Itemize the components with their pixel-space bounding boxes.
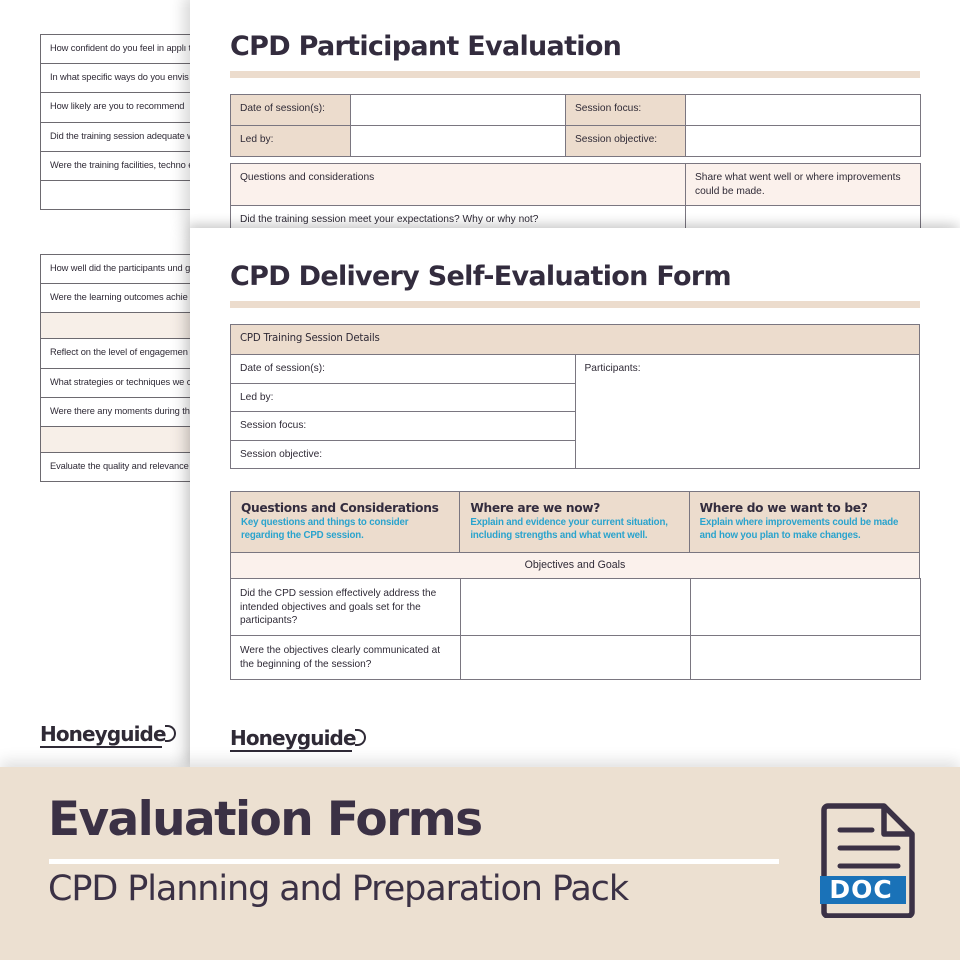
form2-now-1[interactable] [461,579,691,636]
form1-focus-field[interactable] [686,95,921,126]
banner-title: Evaluation Forms [48,794,481,846]
form2-date-label[interactable]: Date of session(s): [231,355,576,384]
form2-col2-subtitle: Explain and evidence your current situat… [470,517,678,542]
form2-participants-cell[interactable]: Participants: [575,355,920,469]
form2-questions-table: Did the CPD session effectively address … [230,578,921,680]
form1-ledby-label: Led by: [231,126,351,157]
form2-want-2[interactable] [691,636,921,680]
form1-title: CPD Participant Evaluation [230,30,920,64]
form2-col3-subtitle: Explain where improvements could be made… [700,517,909,542]
form1-date-label: Date of session(s): [231,95,351,126]
honeyguide-logo-text: Honeyguide [40,722,166,746]
form2-now-2[interactable] [461,636,691,680]
form2-section-band: Objectives and Goals [230,552,920,579]
honeyguide-logo-background: Honeyguide [40,722,176,746]
form1-body: CPD Participant Evaluation Date of sessi… [190,0,960,266]
honeyguide-wordmark: Honeyguide [230,726,366,750]
form2-column-header-where-want: Where do we want to be? Explain where im… [690,492,919,552]
form2-question-2: Were the objectives clearly communicated… [231,636,461,680]
form1-date-field[interactable] [351,95,566,126]
form2-col1-title: Questions and Considerations [241,501,449,515]
doc-file-icon-svg: DOC [820,800,920,918]
table-header-row: Questions and considerations Share what … [231,164,921,206]
form2-col3-title: Where do we want to be? [700,501,909,515]
bottom-banner: Evaluation Forms CPD Planning and Prepar… [0,767,960,960]
table-row: Were the objectives clearly communicated… [231,636,921,680]
form2-col2-title: Where are we now? [470,501,678,515]
form2-col1-subtitle: Key questions and things to consider reg… [241,517,449,542]
honeyguide-swoosh-icon [355,729,366,746]
form2-column-headers: Questions and Considerations Key questio… [230,491,920,552]
banner-subtitle: CPD Planning and Preparation Pack [48,867,628,911]
doc-file-icon: DOC [820,800,920,923]
document-cpd-participant-evaluation: CPD Participant Evaluation Date of sessi… [190,0,960,228]
form2-question-1: Did the CPD session effectively address … [231,579,461,636]
form1-title-rule [230,71,920,78]
document-cpd-delivery-self-evaluation: CPD Delivery Self-Evaluation Form CPD Tr… [190,228,960,768]
form2-details-header: CPD Training Session Details [231,325,920,355]
form2-details-table: CPD Training Session Details Date of ses… [230,324,920,469]
form2-title: CPD Delivery Self-Evaluation Form [230,260,920,294]
form1-col1-header: Questions and considerations [231,164,686,206]
form1-objective-field[interactable] [686,126,921,157]
honeyguide-swoosh-icon [165,725,176,742]
form2-ledby-label[interactable]: Led by: [231,383,576,412]
doc-badge-label: DOC [829,875,892,904]
table-row: Date of session(s): Participants: [231,355,920,384]
form2-objective-label[interactable]: Session objective: [231,440,576,469]
form2-participants-label: Participants: [585,363,641,374]
form1-details-table: Date of session(s): Session focus: Led b… [230,94,921,157]
honeyguide-underline [230,750,352,752]
form2-want-1[interactable] [691,579,921,636]
form2-body: CPD Delivery Self-Evaluation Form CPD Tr… [190,228,960,750]
honeyguide-wordmark: Honeyguide [40,722,176,746]
honeyguide-logo-text: Honeyguide [230,726,356,750]
screenshot-root: How confident do you feel in applı train… [0,0,960,960]
form1-focus-label: Session focus: [566,95,686,126]
form2-focus-label[interactable]: Session focus: [231,412,576,441]
form2-title-rule [230,301,920,308]
table-row: Did the CPD session effectively address … [231,579,921,636]
table-row: Date of session(s): Session focus: [231,95,921,126]
honeyguide-underline [40,746,162,748]
banner-divider [49,859,779,864]
form1-col2-header: Share what went well or where improvemen… [686,164,921,206]
form1-objective-label: Session objective: [566,126,686,157]
form2-column-header-where-now: Where are we now? Explain and evidence y… [460,492,689,552]
table-row: Led by: Session objective: [231,126,921,157]
table-header-row: CPD Training Session Details [231,325,920,355]
form2-column-header-questions: Questions and Considerations Key questio… [231,492,460,552]
form1-ledby-field[interactable] [351,126,566,157]
honeyguide-logo-foreground: Honeyguide [230,726,920,750]
